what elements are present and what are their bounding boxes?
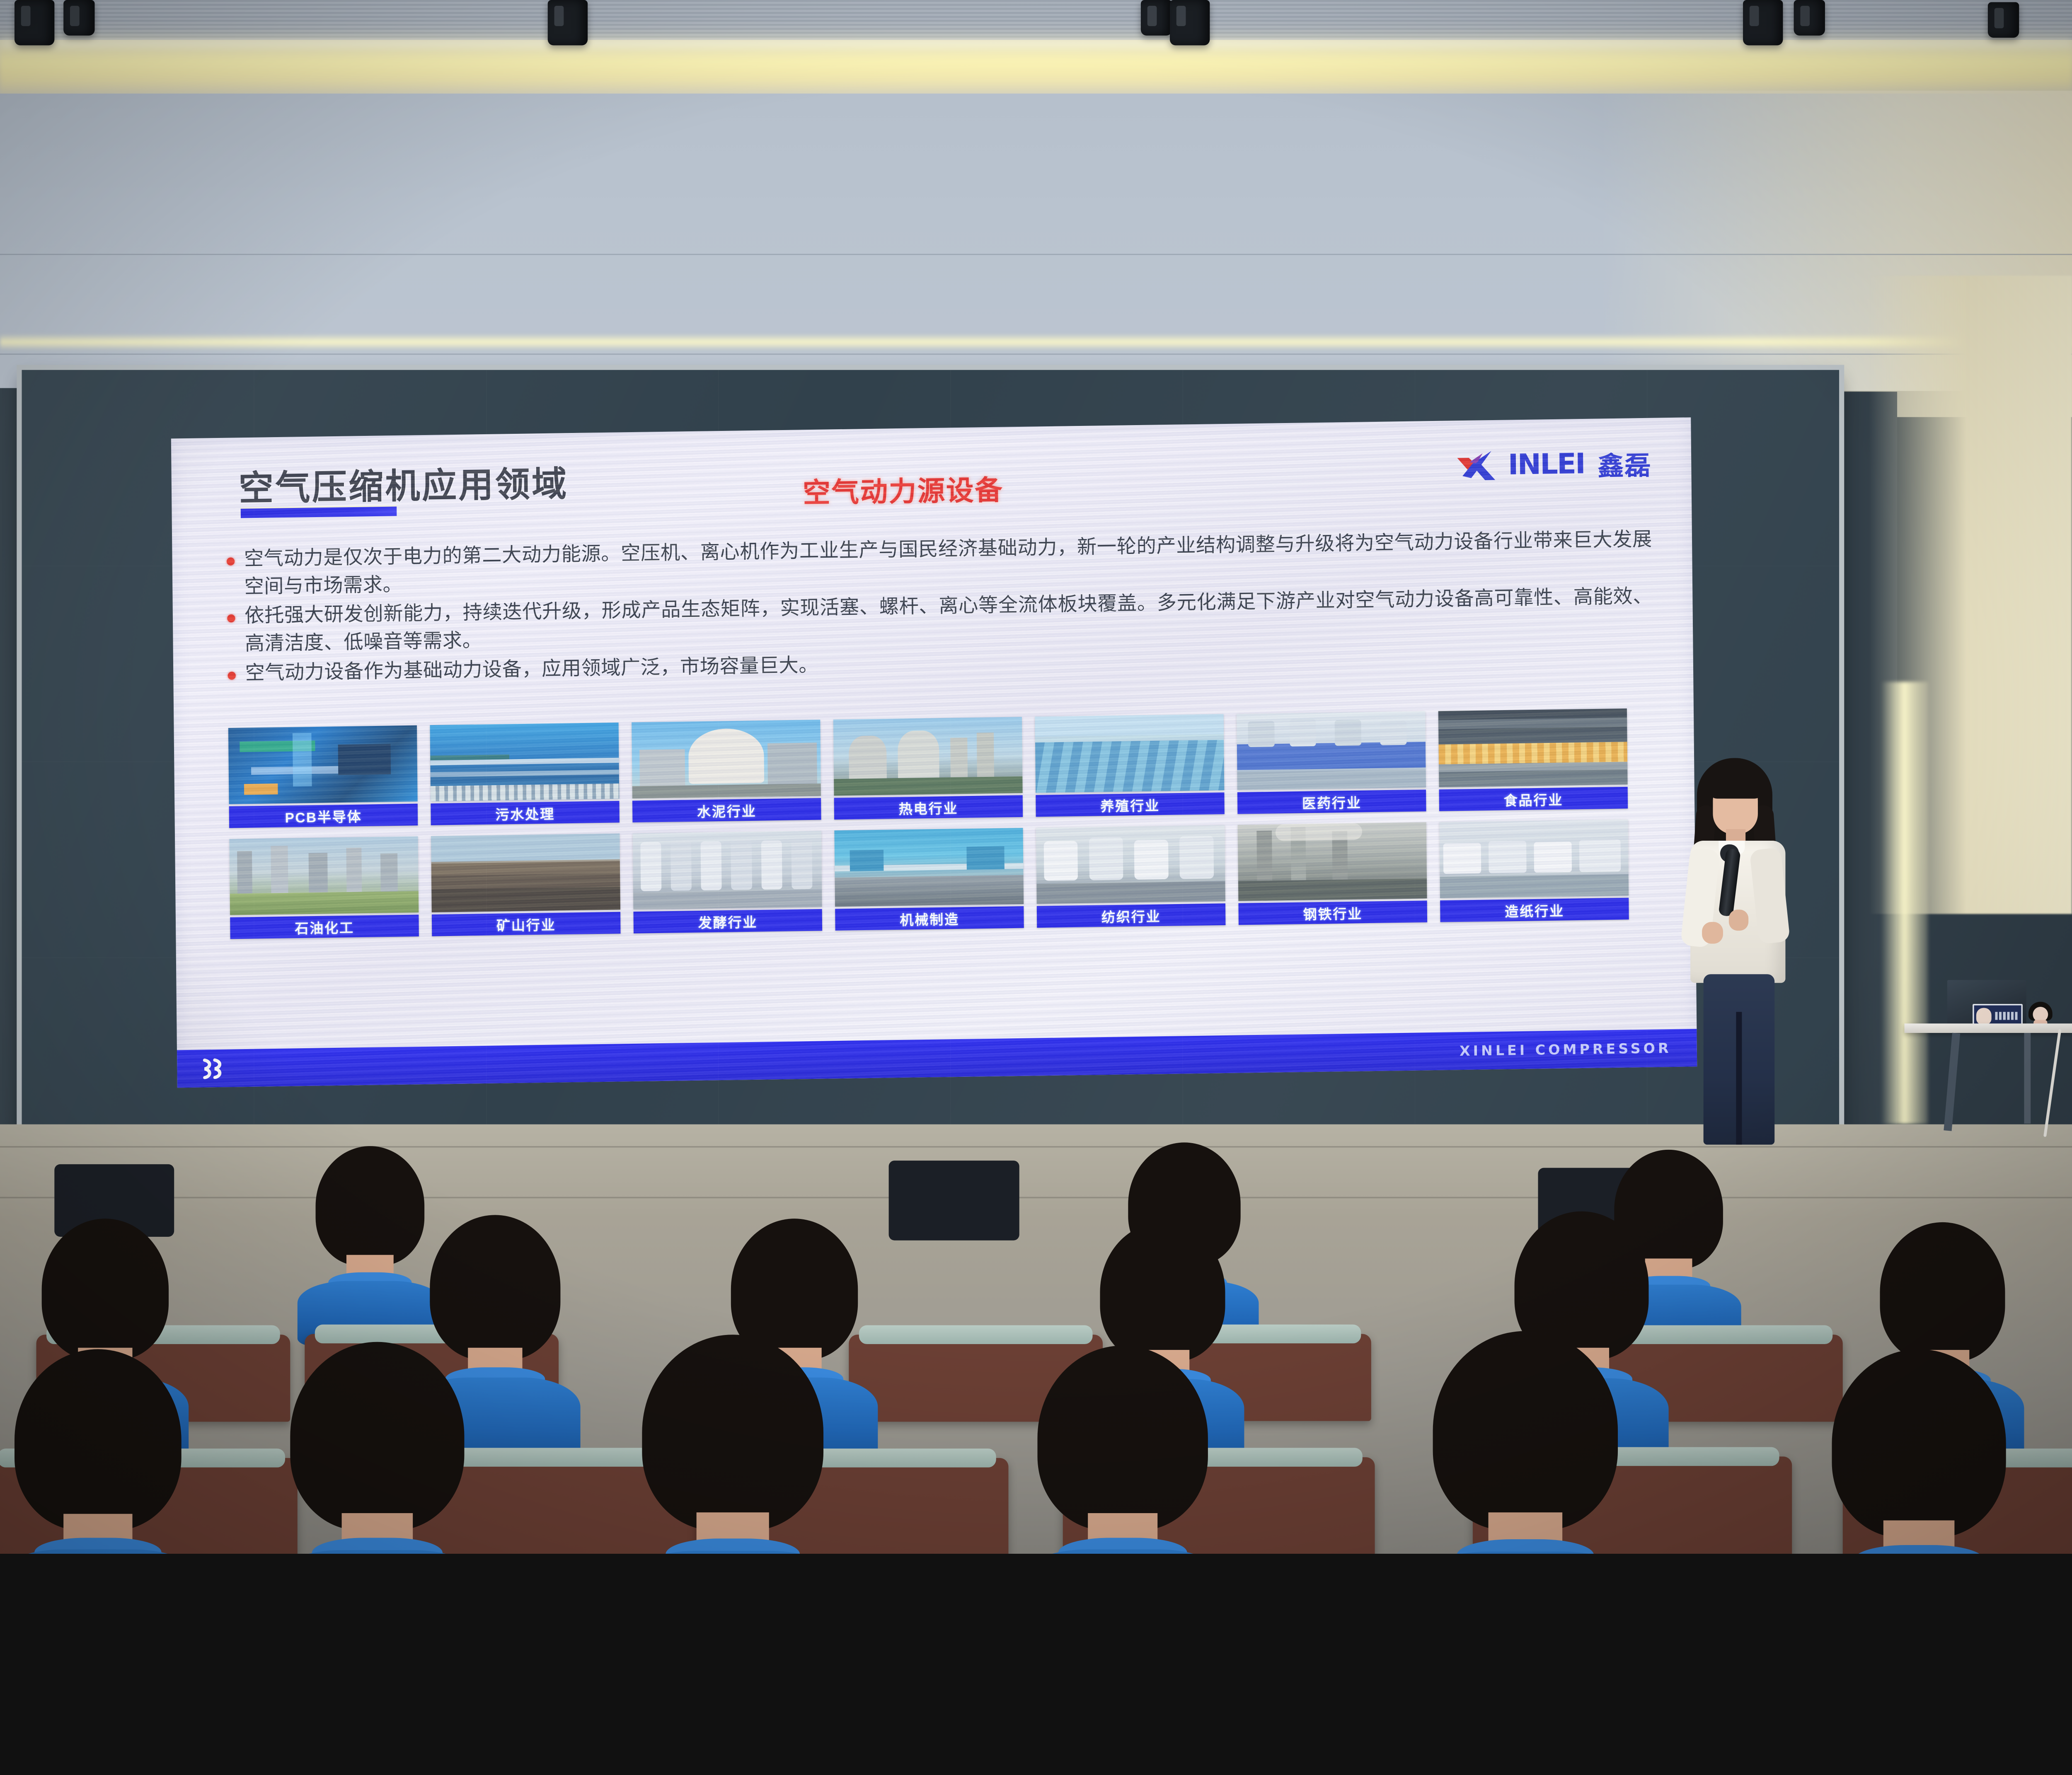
- backpack: [889, 1161, 1019, 1241]
- industry-label: 机械制造: [835, 906, 1024, 931]
- person-head: [1038, 1346, 1208, 1531]
- stage-light-icon: [548, 0, 588, 45]
- bullet-dot-icon: [228, 672, 236, 680]
- ceiling-cove-light: [0, 44, 2072, 98]
- footer-brand-text: XINLEI COMPRESSOR: [1460, 1040, 1672, 1059]
- wall-seam: [0, 254, 2072, 255]
- slide-subtitle: 空气动力源设备: [803, 468, 1004, 510]
- photo-scene: 空气压缩机应用领域 空气动力源设备 INLEI 鑫磊: [0, 0, 2072, 1554]
- desk-leg: [2024, 1033, 2031, 1124]
- xinlei-wave-mark-icon: [199, 1058, 234, 1079]
- thumbnail-machinery-factory-floor: [834, 828, 1024, 907]
- presenter-hand-left: [1702, 922, 1723, 944]
- presenter-hand-right: [1729, 909, 1748, 931]
- industry-grid-row: 石油化工 矿山行业: [229, 819, 1652, 939]
- stage-light-icon: [63, 0, 94, 36]
- industry-cell: 热电行业: [833, 717, 1023, 820]
- industry-label: 热电行业: [834, 795, 1023, 820]
- stage-light-icon: [1141, 0, 1172, 36]
- audience-member: [1806, 1349, 2031, 1554]
- title-underline-rule: [241, 507, 397, 518]
- industry-label: 食品行业: [1439, 787, 1628, 811]
- slide-footer: XINLEI COMPRESSOR: [177, 1029, 1697, 1088]
- audience-member: [265, 1342, 490, 1554]
- audience-member: [1407, 1331, 1643, 1554]
- presenter-fringe: [1709, 772, 1762, 799]
- industry-cell: 污水处理: [430, 723, 619, 825]
- stage-light-icon: [1170, 0, 1210, 45]
- logo-chinese-name: 鑫磊: [1598, 444, 1651, 483]
- industry-label: 造纸行业: [1440, 898, 1629, 922]
- person-head: [642, 1335, 823, 1531]
- stage-light-icon: [15, 0, 54, 45]
- industry-label: 发酵行业: [634, 909, 823, 933]
- audience-member: [617, 1335, 849, 1554]
- industry-cell: 矿山行业: [431, 834, 620, 936]
- thumbnail-pcb-circuit-board: [228, 725, 418, 804]
- thumbnail-cement-plant-silo: [632, 720, 821, 798]
- led-video-wall: 空气压缩机应用领域 空气动力源设备 INLEI 鑫磊: [22, 370, 1840, 1150]
- person-torso: [1012, 1549, 1233, 1554]
- thumbnail-fermentation-tanks: [633, 831, 822, 909]
- industry-cell: 纺织行业: [1036, 825, 1225, 928]
- person-torso: [1407, 1552, 1643, 1554]
- stage-light-icon: [1988, 2, 2019, 38]
- industry-label: 纺织行业: [1037, 903, 1226, 928]
- thumbnail-wastewater-treatment-pools: [430, 723, 619, 801]
- xinlei-logo: INLEI 鑫磊: [1456, 444, 1651, 485]
- x-swoosh-icon: [1456, 449, 1500, 483]
- person-head: [1100, 1222, 1225, 1362]
- industry-cell: 发酵行业: [633, 831, 822, 933]
- bullet-list: 空气动力是仅次于电力的第二大动力能源。空压机、离心机作为工业生产与国民经济基础动…: [227, 525, 1653, 689]
- person-torso: [265, 1550, 490, 1554]
- industry-cell: PCB半导体: [228, 725, 418, 828]
- wall-seam: [0, 353, 2072, 355]
- industry-grid: PCB半导体 污水处理: [228, 708, 1652, 950]
- industry-label: 水泥行业: [632, 798, 821, 822]
- presenter: [1680, 758, 1799, 1153]
- desk-surface: [1905, 1023, 2072, 1033]
- industry-label: 污水处理: [431, 801, 620, 825]
- desk-leg: [1944, 1033, 1960, 1131]
- industry-cell: 水泥行业: [632, 720, 821, 822]
- card-avatar-icon: [1976, 1008, 1992, 1025]
- person-torso: [617, 1551, 849, 1554]
- thumbnail-petrochemical-refinery: [229, 836, 419, 915]
- person-head: [1433, 1331, 1618, 1531]
- industry-label: 养殖行业: [1036, 792, 1225, 817]
- logo-wordmark: INLEI: [1508, 450, 1585, 478]
- audience-member: [0, 1349, 207, 1554]
- industry-grid-row: PCB半导体 污水处理: [228, 708, 1651, 828]
- presentation-slide: 空气压缩机应用领域 空气动力源设备 INLEI 鑫磊: [171, 417, 1697, 1088]
- name-card-stand: [1973, 1004, 2023, 1026]
- side-desk: [1905, 958, 2072, 1146]
- person-head: [15, 1349, 182, 1531]
- thumbnail-aquaculture-ponds: [1035, 714, 1224, 793]
- person-collar: [1854, 1545, 1984, 1554]
- stage-light-icon: [1743, 0, 1783, 45]
- industry-cell: 食品行业: [1438, 709, 1628, 811]
- thumbnail-steel-mill-chimneys: [1238, 822, 1427, 901]
- industry-cell: 造纸行业: [1439, 820, 1629, 922]
- thumbnail-open-pit-mine: [431, 834, 620, 912]
- audience-member: [1012, 1346, 1233, 1554]
- industry-label: PCB半导体: [229, 804, 418, 828]
- person-head: [1832, 1349, 2006, 1538]
- industry-label: 矿山行业: [432, 912, 621, 936]
- power-cable: [2043, 1029, 2061, 1137]
- thumbnail-thermal-power-cooling-towers: [833, 717, 1023, 796]
- person-head: [1880, 1222, 2005, 1362]
- stage-light-icon: [1794, 0, 1825, 36]
- person-head: [42, 1219, 169, 1360]
- person-head: [316, 1146, 425, 1266]
- industry-label: 石油化工: [230, 915, 419, 939]
- person-torso: [0, 1549, 207, 1554]
- card-text-lines: [1995, 1012, 2018, 1020]
- thumbnail-paper-rolls-mill: [1439, 820, 1629, 898]
- person-head: [290, 1342, 464, 1531]
- industry-label: 医药行业: [1237, 790, 1426, 814]
- industry-label: 钢铁行业: [1238, 901, 1427, 925]
- thumbnail-pharmaceutical-production-line: [1237, 711, 1426, 790]
- person-head: [430, 1215, 560, 1360]
- presenter-leg-gap: [1736, 1012, 1742, 1144]
- thumbnail-textile-spinning-machines: [1036, 825, 1225, 904]
- wall-cove-light: [0, 334, 2072, 350]
- industry-cell: 养殖行业: [1035, 714, 1224, 817]
- industry-cell: 钢铁行业: [1238, 822, 1427, 925]
- slide-title: 空气压缩机应用领域: [238, 455, 569, 510]
- industry-cell: 医药行业: [1237, 711, 1426, 814]
- industry-cell: 石油化工: [229, 836, 419, 939]
- industry-cell: 机械制造: [834, 828, 1024, 931]
- thumbnail-food-bottling-line: [1438, 709, 1628, 787]
